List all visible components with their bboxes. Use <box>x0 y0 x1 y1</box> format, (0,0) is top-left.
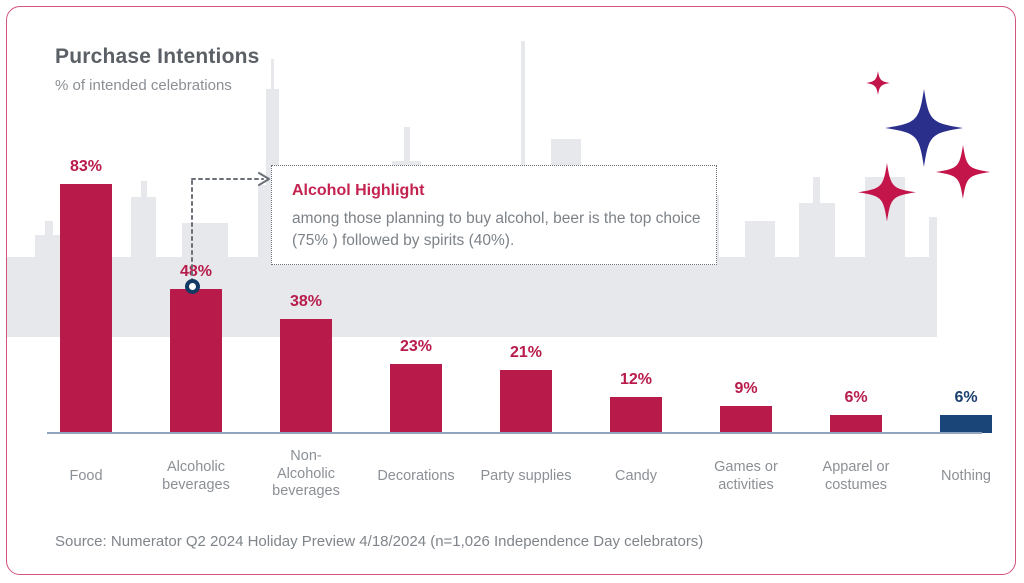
x-axis-label-apparel-or-costumes: Apparel orcostumes <box>796 459 916 494</box>
star-large-blue-icon <box>885 89 963 167</box>
chart-card: Purchase Intentions % of intended celebr… <box>6 6 1016 575</box>
x-axis-label-nothing: Nothing <box>906 468 1016 486</box>
star-decorations <box>845 59 1005 224</box>
alcohol-highlight-callout: Alcohol Highlight among those planning t… <box>271 165 717 265</box>
x-axis-label-alcoholic-beverages: Alcoholicbeverages <box>136 459 256 494</box>
source-footnote: Source: Numerator Q2 2024 Holiday Previe… <box>55 533 703 550</box>
dot-marker-icon <box>185 279 200 294</box>
x-axis-label-non-alcoholic-beverages: Non-Alcoholicbeverages <box>246 448 366 501</box>
annotation-leader-line <box>47 107 977 437</box>
x-axis-label-candy: Candy <box>576 468 696 486</box>
x-axis-label-food: Food <box>26 468 146 486</box>
callout-body: among those planning to buy alcohol, bee… <box>292 208 702 252</box>
callout-title: Alcohol Highlight <box>292 182 424 200</box>
x-axis-label-games-or-activities: Games oractivities <box>686 459 806 494</box>
star-small-red-icon <box>866 71 890 95</box>
star-medium-red-left-icon <box>858 163 916 221</box>
x-axis-label-decorations: Decorations <box>356 468 476 486</box>
x-axis-label-party-supplies: Party supplies <box>466 468 586 486</box>
star-medium-red-right-icon <box>936 145 990 199</box>
